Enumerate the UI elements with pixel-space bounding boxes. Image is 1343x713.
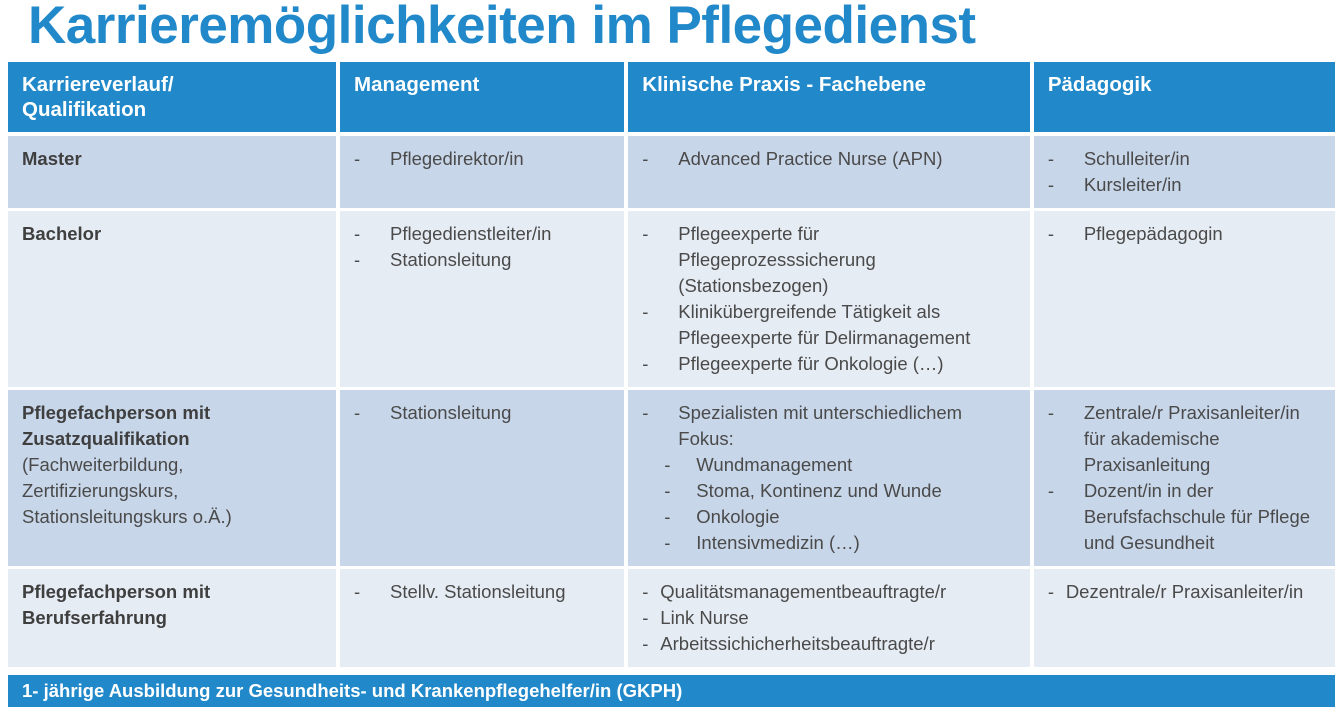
bullet-list: - Pflegeexperte für Pflegeprozesssicheru…	[642, 221, 1020, 377]
list-item: - Stationsleitung	[354, 247, 614, 273]
list-item: - Stellv. Stationsleitung	[354, 579, 614, 605]
list-item-text: Pflegepädagogin	[1084, 223, 1223, 244]
column-header-paedagogik: Pädagogik	[1034, 62, 1335, 132]
row-paedagogik-cell: - Dezentrale/r Praxisanleiter/in	[1034, 569, 1335, 667]
list-item: - Pflegedirektor/in	[354, 146, 614, 172]
bullet-dash-icon: -	[1048, 146, 1054, 172]
sub-list-item-text: Onkologie	[696, 506, 779, 527]
row-management-cell: - Stationsleitung	[340, 390, 624, 566]
bullet-dash-icon: -	[1048, 478, 1054, 504]
bullet-dash-icon: -	[354, 579, 360, 605]
column-header-qualifikation-line1: Karriereverlauf/	[22, 72, 324, 97]
list-item-text: Stellv. Stationsleitung	[390, 581, 566, 602]
bullet-sublist: - Wundmanagement - Stoma, Kontinenz und …	[642, 452, 1020, 556]
row-paedagogik-cell: - Zentrale/r Praxisanleiter/in für akade…	[1034, 390, 1335, 566]
bullet-list: - Schulleiter/in - Kursleiter/in	[1048, 146, 1325, 198]
bullet-dash-icon: -	[642, 400, 648, 426]
slide-root: Karrieremöglichkeiten im Pflegedienst Ka…	[0, 0, 1343, 713]
list-item-text: Qualitätsmanagementbeauftragte/r	[660, 581, 946, 602]
bullet-dash-icon: -	[354, 400, 360, 426]
list-item: - Arbeitssichicherheitsbeauftragte/r	[642, 631, 1020, 657]
bullet-dash-icon: -	[664, 478, 670, 504]
bullet-list: - Spezialisten mit unterschiedlichem Fok…	[642, 400, 1020, 452]
list-item: - Pflegeexperte für Onkologie (…)	[642, 351, 1020, 377]
column-header-management: Management	[340, 62, 624, 132]
list-item-text: Schulleiter/in	[1084, 148, 1190, 169]
list-item: - Link Nurse	[642, 605, 1020, 631]
list-item-text: Spezialisten mit unterschiedlichem Fokus…	[678, 402, 962, 449]
table-row: Pflegefachperson mit Berufserfahrung - S…	[8, 569, 1335, 667]
list-item-text: Dezentrale/r Praxisanleiter/in	[1066, 581, 1304, 602]
row-qualification-cell: Pflegefachperson mit Berufserfahrung	[8, 569, 336, 667]
bullet-dash-icon: -	[642, 299, 648, 325]
bullet-dash-icon: -	[642, 605, 648, 631]
bullet-dash-icon: -	[354, 146, 360, 172]
table-row: Bachelor - Pflegedienstleiter/in - Stati…	[8, 211, 1335, 387]
sub-list-item: - Wundmanagement	[642, 452, 1020, 478]
column-header-klinische-praxis: Klinische Praxis - Fachebene	[628, 62, 1030, 132]
page-title: Karrieremöglichkeiten im Pflegedienst	[28, 0, 1318, 58]
sub-list-item: - Intensivmedizin (…)	[642, 530, 1020, 556]
bullet-dash-icon: -	[642, 631, 648, 657]
list-item-text: Advanced Practice Nurse (APN)	[678, 148, 942, 169]
career-paths-table: Karriereverlauf/ Qualifikation Managemen…	[8, 62, 1335, 670]
list-item: - Pflegepädagogin	[1048, 221, 1325, 247]
list-item-text: Arbeitssichicherheitsbeauftragte/r	[660, 633, 935, 654]
bullet-list: - Qualitätsmanagementbeauftragte/r - Lin…	[642, 579, 1020, 657]
bullet-dash-icon: -	[664, 504, 670, 530]
bullet-list: - Pflegepädagogin	[1048, 221, 1325, 247]
list-item: - Pflegeexperte für Pflegeprozesssicheru…	[642, 221, 1020, 299]
bullet-list: - Stellv. Stationsleitung	[354, 579, 614, 605]
sub-list-item: - Onkologie	[642, 504, 1020, 530]
bullet-dash-icon: -	[354, 221, 360, 247]
bullet-list: - Pflegedienstleiter/in - Stationsleitun…	[354, 221, 614, 273]
list-item: - Dezentrale/r Praxisanleiter/in	[1048, 579, 1325, 605]
bullet-dash-icon: -	[1048, 172, 1054, 198]
list-item: - Dozent/in in der Berufsfachschule für …	[1048, 478, 1325, 556]
row-qualification-cell: Bachelor	[8, 211, 336, 387]
list-item-text: Pflegedienstleiter/in	[390, 223, 551, 244]
row-paedagogik-cell: - Pflegepädagogin	[1034, 211, 1335, 387]
list-item-text: Dozent/in in der Berufsfachschule für Pf…	[1084, 480, 1310, 553]
list-item-text: Pflegedirektor/in	[390, 148, 524, 169]
sub-list-item-text: Wundmanagement	[696, 454, 852, 475]
list-item: - Advanced Practice Nurse (APN)	[642, 146, 1020, 172]
bullet-dash-icon: -	[642, 146, 648, 172]
list-item-text: Link Nurse	[660, 607, 748, 628]
bullet-dash-icon: -	[642, 351, 648, 377]
list-item: - Pflegedienstleiter/in	[354, 221, 614, 247]
list-item: - Klinikübergreifende Tätigkeit als Pfle…	[642, 299, 1020, 351]
row-paedagogik-cell: - Schulleiter/in - Kursleiter/in	[1034, 136, 1335, 208]
table-header-row: Karriereverlauf/ Qualifikation Managemen…	[8, 62, 1335, 132]
row-management-cell: - Pflegedirektor/in	[340, 136, 624, 208]
table-row: Master - Pflegedirektor/in - Advanced Pr…	[8, 136, 1335, 208]
list-item-text: Zentrale/r Praxisanleiter/in für akademi…	[1084, 402, 1300, 475]
row-label-note: (Fachweiterbildung, Zertifizierungskurs,…	[22, 452, 326, 530]
list-item-text: Pflegeexperte für Onkologie (…)	[678, 353, 943, 374]
list-item-text: Pflegeexperte für Pflegeprozesssicherung…	[678, 223, 875, 296]
list-item: - Kursleiter/in	[1048, 172, 1325, 198]
column-header-qualifikation: Karriereverlauf/ Qualifikation	[8, 62, 336, 132]
bullet-dash-icon: -	[1048, 579, 1054, 605]
list-item: - Zentrale/r Praxisanleiter/in für akade…	[1048, 400, 1325, 478]
row-klinische-praxis-cell: - Qualitätsmanagementbeauftragte/r - Lin…	[628, 569, 1030, 667]
sub-list-item: - Stoma, Kontinenz und Wunde	[642, 478, 1020, 504]
row-klinische-praxis-cell: - Pflegeexperte für Pflegeprozesssicheru…	[628, 211, 1030, 387]
bullet-dash-icon: -	[1048, 221, 1054, 247]
list-item-text: Klinikübergreifende Tätigkeit als Pflege…	[678, 301, 970, 348]
sub-list-item-text: Intensivmedizin (…)	[696, 532, 859, 553]
row-label: Pflegefachperson mit Zusatzqualifikation	[22, 400, 326, 452]
row-management-cell: - Stellv. Stationsleitung	[340, 569, 624, 667]
bullet-dash-icon: -	[1048, 400, 1054, 426]
bullet-dash-icon: -	[642, 221, 648, 247]
bullet-list: - Dezentrale/r Praxisanleiter/in	[1048, 579, 1325, 605]
bullet-list: - Stationsleitung	[354, 400, 614, 426]
list-item-text: Stationsleitung	[390, 402, 511, 423]
list-item: - Qualitätsmanagementbeauftragte/r	[642, 579, 1020, 605]
list-item: - Spezialisten mit unterschiedlichem Fok…	[642, 400, 1020, 452]
bullet-list: - Zentrale/r Praxisanleiter/in für akade…	[1048, 400, 1325, 556]
row-qualification-cell: Master	[8, 136, 336, 208]
bullet-dash-icon: -	[354, 247, 360, 273]
row-klinische-praxis-cell: - Advanced Practice Nurse (APN)	[628, 136, 1030, 208]
row-label: Master	[22, 146, 326, 172]
row-label: Pflegefachperson mit Berufserfahrung	[22, 579, 326, 631]
list-item: - Stationsleitung	[354, 400, 614, 426]
column-header-qualifikation-line2: Qualifikation	[22, 97, 324, 122]
list-item-text: Kursleiter/in	[1084, 174, 1182, 195]
bullet-list: - Advanced Practice Nurse (APN)	[642, 146, 1020, 172]
list-item: - Schulleiter/in	[1048, 146, 1325, 172]
row-label: Bachelor	[22, 221, 326, 247]
row-management-cell: - Pflegedienstleiter/in - Stationsleitun…	[340, 211, 624, 387]
sub-list-item-text: Stoma, Kontinenz und Wunde	[696, 480, 941, 501]
bullet-dash-icon: -	[642, 579, 648, 605]
bullet-dash-icon: -	[664, 452, 670, 478]
bullet-dash-icon: -	[664, 530, 670, 556]
footer-banner: 1- jährige Ausbildung zur Gesundheits- u…	[8, 675, 1335, 707]
row-klinische-praxis-cell: - Spezialisten mit unterschiedlichem Fok…	[628, 390, 1030, 566]
row-qualification-cell: Pflegefachperson mit Zusatzqualifikation…	[8, 390, 336, 566]
list-item-text: Stationsleitung	[390, 249, 511, 270]
bullet-list: - Pflegedirektor/in	[354, 146, 614, 172]
table-row: Pflegefachperson mit Zusatzqualifikation…	[8, 390, 1335, 566]
